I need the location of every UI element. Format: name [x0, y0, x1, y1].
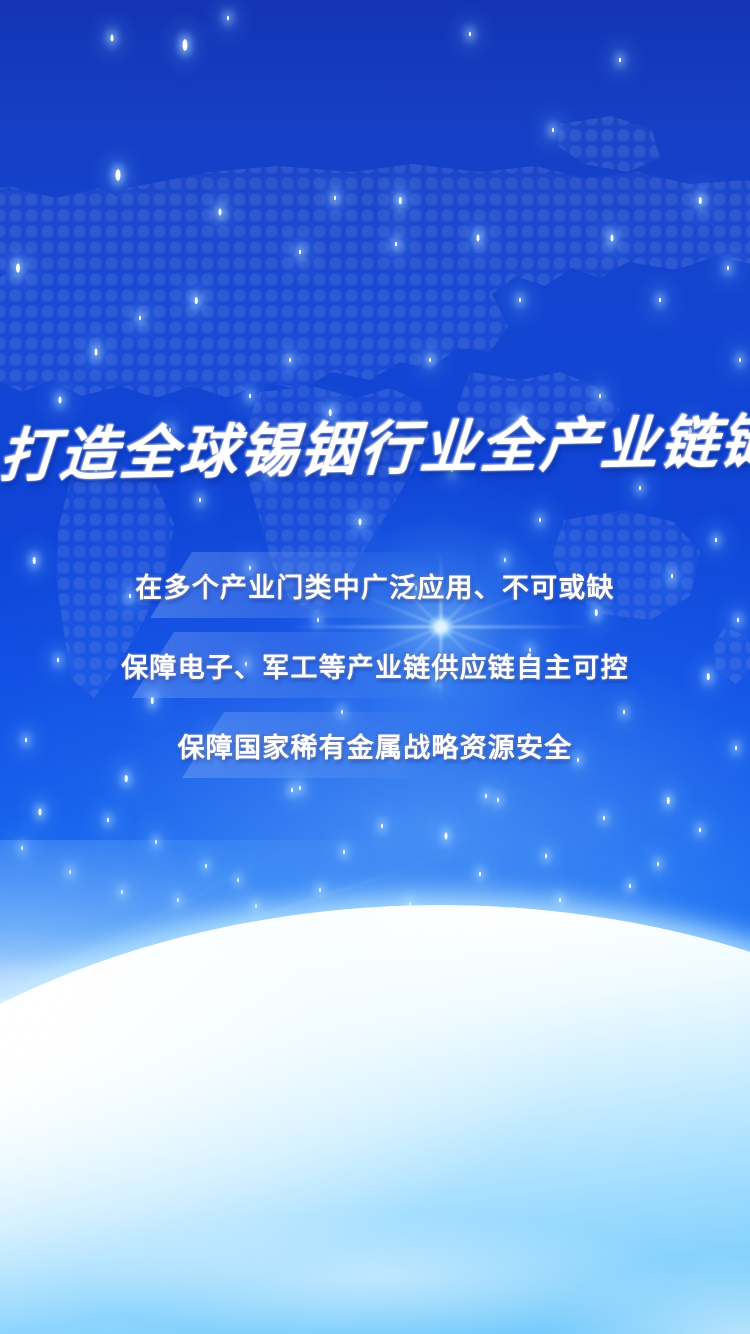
subtitle-text-3: 保障国家稀有金属战略资源安全: [178, 726, 573, 765]
subtitle-text-1: 在多个产业门类中广泛应用、不可或缺: [135, 566, 614, 605]
subtitle-line-3: 保障国家稀有金属战略资源安全: [0, 718, 750, 772]
subtitle-line-2: 保障电子、军工等产业链供应链自主可控: [0, 638, 750, 692]
page-title: 打造全球锡铟行业全产业链链主: [0, 411, 750, 488]
poster-canvas: 打造全球锡铟行业全产业链链主 在多个产业门类中广泛应用、不可或缺 保障电子、军工…: [0, 0, 750, 1334]
subtitle-text-2: 保障电子、军工等产业链供应链自主可控: [121, 646, 629, 685]
subtitle-line-1: 在多个产业门类中广泛应用、不可或缺: [0, 558, 750, 612]
poster-content: 打造全球锡铟行业全产业链链主 在多个产业门类中广泛应用、不可或缺 保障电子、军工…: [0, 0, 750, 1334]
